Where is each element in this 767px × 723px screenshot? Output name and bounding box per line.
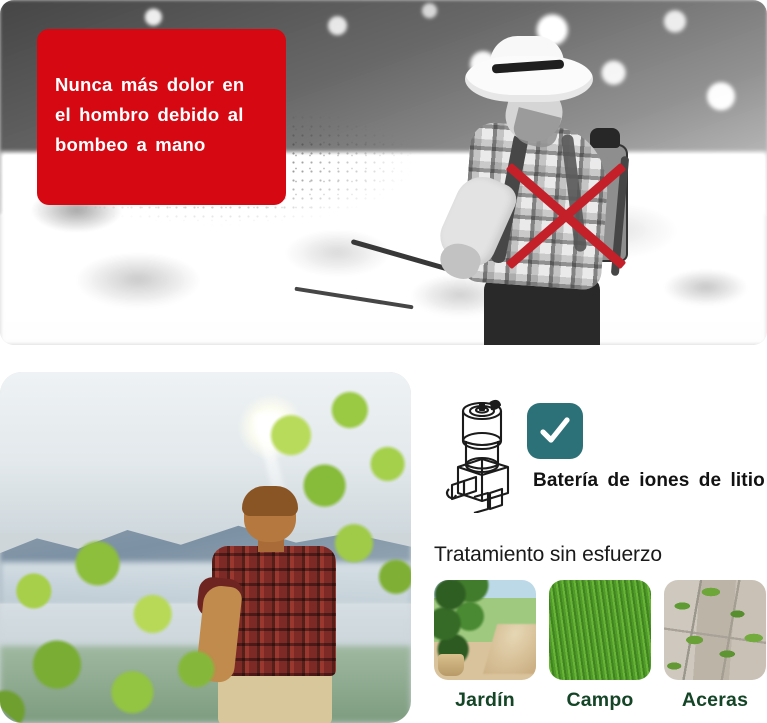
features-column: Batería de iones de litio Tratamiento si… <box>430 385 767 723</box>
product-feature-page: Nunca más dolor en el hombro debido al b… <box>0 0 767 723</box>
thumbnail-caption: Campo <box>549 689 651 712</box>
flower-pot <box>438 654 464 676</box>
garden-path-thumbnail <box>434 580 536 680</box>
thumbnail-item: Aceras <box>664 580 766 712</box>
grass-lawn-thumbnail <box>549 580 651 680</box>
hero-photo-black-and-white: Nunca más dolor en el hombro debido al b… <box>0 0 767 345</box>
thumbnail-caption: Aceras <box>664 689 766 712</box>
thumbnail-item: Jardín <box>434 580 536 712</box>
battery-feature-text: Batería de iones de litio <box>533 467 765 495</box>
check-icon <box>537 413 573 449</box>
thumbnail-caption: Jardín <box>434 689 536 712</box>
thumbnail-item: Campo <box>549 580 651 712</box>
lithium-battery-motor-line-art-icon <box>444 393 520 513</box>
red-cross-overlay <box>503 162 629 270</box>
man-hair <box>242 486 298 516</box>
paved-sidewalk-weeds-thumbnail <box>664 580 766 680</box>
check-badge <box>527 403 583 459</box>
treatment-heading: Tratamiento sin esfuerzo <box>434 543 662 567</box>
callout-text: Nunca más dolor en el hombro debido al b… <box>55 70 266 160</box>
treatment-thumbnail-row: Jardín Campo Aceras <box>434 580 767 712</box>
lifestyle-photo: Evika Your Gardener Army <box>0 372 411 723</box>
red-callout-banner: Nunca más dolor en el hombro debido al b… <box>37 29 286 205</box>
